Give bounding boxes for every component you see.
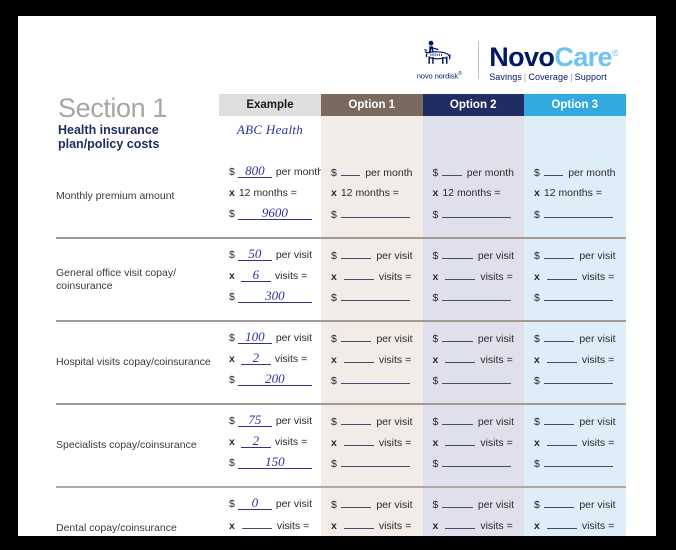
multiply-symbol: x: [534, 519, 540, 533]
row-2-option-3-total-input[interactable]: [544, 373, 613, 384]
row-2-option-3-rate-input[interactable]: [544, 331, 574, 342]
dollar-sign: $: [534, 208, 540, 222]
row-3-example-total-line: $150: [229, 456, 311, 477]
row-2-example-multiplier-line: x2visits =: [229, 352, 311, 373]
dollar-sign: $: [229, 207, 235, 221]
row-2-option-2-total-line: $: [433, 373, 515, 394]
row-3-example-rate-value: 75: [238, 414, 272, 427]
row-4-option-1-multiplier-line: xvisits =: [331, 518, 413, 536]
row-2-option-2-multiplier-label: visits =: [480, 353, 512, 367]
dollar-sign: $: [331, 415, 337, 429]
row-0-example-multiplier-line: x12 months =: [229, 186, 311, 207]
column-header-option-2: Option 2: [423, 94, 525, 116]
multiply-symbol: x: [534, 436, 540, 450]
row-0-option-3-total-line: $: [534, 207, 616, 228]
row-3-example-rate-line: $75per visit: [229, 414, 311, 435]
row-0-option-1-multiplier-label: 12 months =: [341, 186, 399, 200]
row-1-option-2-count-input[interactable]: [445, 269, 475, 280]
dollar-sign: $: [534, 249, 540, 263]
row-3-option-1-count-input[interactable]: [344, 435, 374, 446]
dollar-sign: $: [331, 249, 337, 263]
row-2-option-1-total-input[interactable]: [341, 373, 410, 384]
row-2-option-1-rate-line: $per visit: [331, 331, 413, 352]
row-3-option-1-total-line: $: [331, 456, 413, 477]
row-0-option-3-multiplier-line: x12 months =: [534, 186, 616, 207]
row-2-example-total-value: 200: [238, 373, 312, 386]
row-0-option-3-total-input[interactable]: [544, 207, 613, 218]
row-3-example-rate-unit-label: per visit: [276, 414, 312, 428]
row-1-option-1-rate-line: $per visit: [331, 248, 413, 269]
dollar-sign: $: [331, 291, 337, 305]
row-3-option-3-rate-unit-label: per visit: [579, 415, 615, 429]
section-subtitle-line-2: plan/policy costs: [58, 138, 219, 152]
multiply-symbol: x: [433, 270, 439, 284]
dollar-sign: $: [331, 208, 337, 222]
row-0-option-3-rate-input[interactable]: [544, 165, 563, 176]
row-1-example-total-line: $300: [229, 290, 311, 311]
dollar-sign: $: [433, 291, 439, 305]
row-2-option-1-cell[interactable]: $per visitxvisits =$: [321, 322, 423, 403]
dollar-sign: $: [331, 166, 337, 180]
row-1-option-1-cell[interactable]: $per visitxvisits =$: [321, 239, 423, 320]
row-0-option-2-cell[interactable]: $per monthx12 months =$: [423, 156, 525, 237]
dollar-sign: $: [433, 374, 439, 388]
row-2-option-1-multiplier-label: visits =: [379, 353, 411, 367]
row-1-option-2-rate-unit-label: per visit: [478, 249, 514, 263]
row-label-text: Dental copay/coinsurance: [56, 522, 177, 535]
page-title: Section 1: [58, 94, 219, 122]
multiply-symbol: x: [331, 436, 337, 450]
row-4-example-cell: $0per visitxvisits =$Not covered: [219, 488, 321, 536]
row-4-option-3-multiplier-line: xvisits =: [534, 518, 616, 536]
row-1-option-2-total-input[interactable]: [442, 290, 511, 301]
row-1-option-3-multiplier-label: visits =: [582, 270, 614, 284]
multiply-symbol: x: [433, 186, 439, 200]
row-0-example-rate-unit-label: per month: [276, 165, 323, 179]
row-0-option-2-multiplier-line: x12 months =: [433, 186, 515, 207]
row-3-option-1-total-input[interactable]: [341, 456, 410, 467]
multiply-symbol: x: [229, 352, 235, 366]
table-row: Dental copay/coinsurance$0per visitxvisi…: [56, 488, 626, 536]
novocare-logo: novo nordisk® NovoCare® Savings|Coverage…: [408, 38, 618, 82]
row-2-option-3-rate-line: $per visit: [534, 331, 616, 352]
dollar-sign: $: [433, 457, 439, 471]
row-4-example-multiplier-label: visits =: [277, 519, 309, 533]
multiply-symbol: x: [331, 519, 337, 533]
section-title-row: Section 1 Health insurance plan/policy c…: [56, 116, 626, 156]
novo-nordisk-apis-bull-icon: [419, 40, 459, 70]
row-3-option-3-rate-line: $per visit: [534, 414, 616, 435]
row-3-example-count-value: 2: [241, 435, 271, 448]
row-1-option-3-count-input[interactable]: [547, 269, 577, 280]
row-3-option-2-multiplier-label: visits =: [480, 436, 512, 450]
row-4-option-1-rate-unit-label: per visit: [376, 498, 412, 512]
novocare-care-text: Care: [554, 42, 612, 72]
row-0-option-3-multiplier-label: 12 months =: [544, 186, 602, 200]
dollar-sign: $: [534, 291, 540, 305]
row-2-option-1-rate-unit-label: per visit: [376, 332, 412, 346]
novo-nordisk-wordmark: novo nordisk®: [417, 71, 462, 81]
row-4-option-3-multiplier-label: visits =: [582, 519, 614, 533]
row-1-example-rate-value: 50: [238, 248, 272, 261]
dollar-sign: $: [229, 373, 235, 387]
row-1-option-3-multiplier-line: xvisits =: [534, 269, 616, 290]
row-3-option-2-rate-unit-label: per visit: [478, 415, 514, 429]
row-4-option-2-multiplier-line: xvisits =: [433, 518, 515, 536]
row-label-text: Hospital visits copay/coinsurance: [56, 356, 211, 369]
row-label: Monthly premium amount: [56, 156, 219, 237]
row-3-option-2-multiplier-line: xvisits =: [433, 435, 515, 456]
dollar-sign: $: [534, 166, 540, 180]
row-label-text: Specialists copay/coinsurance: [56, 439, 197, 452]
row-2-example-multiplier-label: visits =: [275, 352, 307, 366]
row-1-option-2-total-line: $: [433, 290, 515, 311]
row-label: Hospital visits copay/coinsurance: [56, 322, 219, 403]
row-1-example-multiplier-line: x6visits =: [229, 269, 311, 290]
row-1-option-3-rate-input[interactable]: [544, 248, 574, 259]
table-row: Monthly premium amount$800per monthx12 m…: [56, 156, 626, 237]
row-0-option-2-rate-input[interactable]: [442, 165, 461, 176]
row-2-option-1-rate-input[interactable]: [341, 331, 371, 342]
row-2-example-total-line: $200: [229, 373, 311, 394]
dollar-sign: $: [534, 457, 540, 471]
multiply-symbol: x: [534, 353, 540, 367]
row-1-option-2-cell[interactable]: $per visitxvisits =$: [423, 239, 525, 320]
row-4-option-3-rate-unit-label: per visit: [579, 498, 615, 512]
row-label: Specialists copay/coinsurance: [56, 405, 219, 486]
row-4-option-1-count-input[interactable]: [344, 518, 374, 529]
row-3-example-multiplier-line: x2visits =: [229, 435, 311, 456]
multiply-symbol: x: [229, 519, 235, 533]
table-row: Hospital visits copay/coinsurance$100per…: [56, 322, 626, 403]
row-1-option-1-rate-input[interactable]: [341, 248, 371, 259]
row-4-option-2-rate-unit-label: per visit: [478, 498, 514, 512]
section-subtitle-line-1: Health insurance: [58, 124, 219, 138]
row-0-option-1-rate-line: $per month: [331, 165, 413, 186]
dollar-sign: $: [331, 457, 337, 471]
row-4-option-2-multiplier-label: visits =: [480, 519, 512, 533]
row-4-option-3-cell[interactable]: $per visitxvisits =$: [524, 488, 626, 536]
row-4-option-1-cell[interactable]: $per visitxvisits =$: [321, 488, 423, 536]
row-3-option-3-total-input[interactable]: [544, 456, 613, 467]
dollar-sign: $: [229, 414, 235, 428]
insurance-cost-comparison-table: Example Option 1 Option 2 Option 3 Secti…: [56, 94, 626, 536]
dollar-sign: $: [229, 456, 235, 470]
row-2-option-1-multiplier-line: xvisits =: [331, 352, 413, 373]
row-1-option-3-total-line: $: [534, 290, 616, 311]
row-0-option-1-rate-input[interactable]: [341, 165, 360, 176]
row-0-option-2-rate-line: $per month: [433, 165, 515, 186]
dollar-sign: $: [229, 290, 235, 304]
section-title-block: Section 1 Health insurance plan/policy c…: [56, 116, 219, 156]
row-4-option-2-count-input[interactable]: [445, 518, 475, 529]
row-4-option-1-multiplier-label: visits =: [379, 519, 411, 533]
row-4-example-rate-value: 0: [238, 497, 272, 510]
dollar-sign: $: [534, 498, 540, 512]
row-1-example-rate-line: $50per visit: [229, 248, 311, 269]
row-0-option-3-rate-line: $per month: [534, 165, 616, 186]
row-0-example-rate-line: $800per month: [229, 165, 311, 186]
row-1-option-3-cell[interactable]: $per visitxvisits =$: [524, 239, 626, 320]
row-1-option-1-rate-unit-label: per visit: [376, 249, 412, 263]
row-4-option-1-rate-line: $per visit: [331, 497, 413, 518]
row-0-option-2-total-line: $: [433, 207, 515, 228]
row-0-option-1-total-line: $: [331, 207, 413, 228]
row-2-example-rate-unit-label: per visit: [276, 331, 312, 345]
dollar-sign: $: [229, 331, 235, 345]
row-4-option-2-cell[interactable]: $per visitxvisits =$: [423, 488, 525, 536]
row-0-example-total-value: 9600: [238, 207, 312, 220]
row-3-option-1-multiplier-line: xvisits =: [331, 435, 413, 456]
novo-nordisk-logo: novo nordisk®: [408, 40, 470, 81]
row-0-option-3-rate-unit-label: per month: [568, 166, 615, 180]
row-0-option-1-rate-unit-label: per month: [365, 166, 412, 180]
row-3-option-2-rate-input[interactable]: [442, 414, 472, 425]
row-label: General office visit copay/ coinsurance: [56, 239, 219, 320]
row-1-option-1-total-input[interactable]: [341, 290, 410, 301]
dollar-sign: $: [534, 374, 540, 388]
row-3-option-1-multiplier-label: visits =: [379, 436, 411, 450]
multiply-symbol: x: [229, 186, 235, 200]
row-2-example-rate-value: 100: [238, 331, 272, 344]
row-0-option-2-total-input[interactable]: [442, 207, 511, 218]
logo-divider: [478, 41, 479, 79]
row-2-option-2-count-input[interactable]: [445, 352, 475, 363]
registered-trademark-icon: ®: [612, 48, 618, 58]
row-3-option-3-cell[interactable]: $per visitxvisits =$: [524, 405, 626, 486]
multiply-symbol: x: [229, 269, 235, 283]
table-row: Specialists copay/coinsurance$75per visi…: [56, 405, 626, 486]
row-3-option-3-total-line: $: [534, 456, 616, 477]
row-1-option-2-rate-line: $per visit: [433, 248, 515, 269]
row-4-option-2-rate-input[interactable]: [442, 497, 472, 508]
row-4-option-1-rate-input[interactable]: [341, 497, 371, 508]
dollar-sign: $: [229, 165, 235, 179]
row-1-option-1-total-line: $: [331, 290, 413, 311]
row-4-example-rate-unit-label: per visit: [276, 497, 312, 511]
row-2-option-3-cell[interactable]: $per visitxvisits =$: [524, 322, 626, 403]
multiply-symbol: x: [331, 270, 337, 284]
example-plan-name-cell: ABC Health: [219, 116, 321, 156]
dollar-sign: $: [433, 166, 439, 180]
row-4-example-count-input[interactable]: [242, 518, 272, 529]
row-0-example-total-line: $9600: [229, 207, 311, 228]
row-3-example-cell: $75per visitx2visits =$150: [219, 405, 321, 486]
row-1-example-rate-unit-label: per visit: [276, 248, 312, 262]
row-0-example-cell: $800per monthx12 months =$9600: [219, 156, 321, 237]
row-label-text: Monthly premium amount: [56, 190, 174, 203]
dollar-sign: $: [433, 415, 439, 429]
column-header-option-1: Option 1: [321, 94, 423, 116]
multiply-symbol: x: [534, 186, 540, 200]
row-1-example-count-value: 6: [241, 269, 271, 282]
row-1-option-1-multiplier-label: visits =: [379, 270, 411, 284]
multiply-symbol: x: [433, 353, 439, 367]
multiply-symbol: x: [433, 436, 439, 450]
dollar-sign: $: [229, 248, 235, 262]
document-page: novo nordisk® NovoCare® Savings|Coverage…: [18, 16, 656, 536]
row-3-option-3-multiplier-label: visits =: [582, 436, 614, 450]
row-2-option-3-count-input[interactable]: [547, 352, 577, 363]
row-3-example-total-value: 150: [238, 456, 312, 469]
dollar-sign: $: [331, 498, 337, 512]
row-0-option-1-total-input[interactable]: [341, 207, 410, 218]
row-2-example-cell: $100per visitx2visits =$200: [219, 322, 321, 403]
row-1-example-total-value: 300: [238, 290, 312, 303]
row-0-example-multiplier-label: 12 months =: [239, 186, 297, 200]
row-3-option-3-rate-input[interactable]: [544, 414, 574, 425]
dollar-sign: $: [534, 415, 540, 429]
row-0-example-rate-value: 800: [238, 165, 272, 178]
row-0-option-2-rate-unit-label: per month: [467, 166, 514, 180]
example-plan-name: ABC Health: [219, 116, 321, 138]
row-2-example-rate-line: $100per visit: [229, 331, 311, 352]
table-row: General office visit copay/ coinsurance$…: [56, 239, 626, 320]
row-3-option-3-multiplier-line: xvisits =: [534, 435, 616, 456]
dollar-sign: $: [331, 332, 337, 346]
row-label: Dental copay/coinsurance: [56, 488, 219, 536]
row-2-example-count-value: 2: [241, 352, 271, 365]
dollar-sign: $: [433, 332, 439, 346]
row-4-option-2-rate-line: $per visit: [433, 497, 515, 518]
row-label-text: General office visit copay/ coinsurance: [56, 267, 219, 293]
row-1-option-1-count-input[interactable]: [344, 269, 374, 280]
row-4-option-3-count-input[interactable]: [547, 518, 577, 529]
row-2-option-2-rate-line: $per visit: [433, 331, 515, 352]
row-1-option-2-rate-input[interactable]: [442, 248, 472, 259]
row-1-example-multiplier-label: visits =: [275, 269, 307, 283]
row-3-option-1-cell[interactable]: $per visitxvisits =$: [321, 405, 423, 486]
row-1-option-1-multiplier-line: xvisits =: [331, 269, 413, 290]
row-3-option-2-cell[interactable]: $per visitxvisits =$: [423, 405, 525, 486]
row-2-option-1-total-line: $: [331, 373, 413, 394]
row-3-example-multiplier-label: visits =: [275, 435, 307, 449]
row-3-option-1-rate-unit-label: per visit: [376, 415, 412, 429]
novocare-wordmark: NovoCare® Savings|Coverage|Support: [489, 39, 618, 82]
row-2-option-3-rate-unit-label: per visit: [579, 332, 615, 346]
dollar-sign: $: [331, 374, 337, 388]
row-0-option-3-cell[interactable]: $per monthx12 months =$: [524, 156, 626, 237]
row-0-option-1-multiplier-line: x12 months =: [331, 186, 413, 207]
row-4-option-3-rate-line: $per visit: [534, 497, 616, 518]
row-2-option-3-total-line: $: [534, 373, 616, 394]
column-header-option-3: Option 3: [524, 94, 626, 116]
row-4-example-rate-line: $0per visit: [229, 497, 311, 518]
tagline-support: Support: [575, 72, 607, 82]
row-2-option-3-multiplier-label: visits =: [582, 353, 614, 367]
dollar-sign: $: [534, 332, 540, 346]
tagline-coverage: Coverage: [528, 72, 568, 82]
row-1-example-cell: $50per visitx6visits =$300: [219, 239, 321, 320]
row-2-option-2-multiplier-line: xvisits =: [433, 352, 515, 373]
row-4-example-multiplier-line: xvisits =: [229, 518, 311, 536]
row-1-option-3-rate-unit-label: per visit: [579, 249, 615, 263]
row-1-option-3-total-input[interactable]: [544, 290, 613, 301]
row-1-option-2-multiplier-label: visits =: [480, 270, 512, 284]
dollar-sign: $: [433, 208, 439, 222]
row-3-option-2-count-input[interactable]: [445, 435, 475, 446]
row-3-option-1-rate-line: $per visit: [331, 414, 413, 435]
tagline-savings: Savings: [489, 72, 522, 82]
row-1-option-3-rate-line: $per visit: [534, 248, 616, 269]
row-3-option-3-count-input[interactable]: [547, 435, 577, 446]
row-2-option-2-total-input[interactable]: [442, 373, 511, 384]
multiply-symbol: x: [331, 186, 337, 200]
row-1-option-2-multiplier-line: xvisits =: [433, 269, 515, 290]
dollar-sign: $: [433, 249, 439, 263]
row-4-option-3-rate-input[interactable]: [544, 497, 574, 508]
row-0-option-2-multiplier-label: 12 months =: [442, 186, 500, 200]
dollar-sign: $: [229, 497, 235, 511]
multiply-symbol: x: [229, 435, 235, 449]
row-3-option-2-total-input[interactable]: [442, 456, 511, 467]
novocare-novo-text: Novo: [489, 42, 554, 72]
row-2-option-2-rate-unit-label: per visit: [478, 332, 514, 346]
multiply-symbol: x: [534, 270, 540, 284]
row-3-option-2-rate-line: $per visit: [433, 414, 515, 435]
row-3-option-1-rate-input[interactable]: [341, 414, 371, 425]
row-2-option-2-cell[interactable]: $per visitxvisits =$: [423, 322, 525, 403]
option-2-plan-name-cell[interactable]: [423, 116, 525, 156]
option-3-plan-name-cell[interactable]: [524, 116, 626, 156]
dollar-sign: $: [433, 498, 439, 512]
row-2-option-3-multiplier-line: xvisits =: [534, 352, 616, 373]
multiply-symbol: x: [331, 353, 337, 367]
multiply-symbol: x: [433, 519, 439, 533]
column-header-example: Example: [219, 94, 321, 116]
row-2-option-2-rate-input[interactable]: [442, 331, 472, 342]
row-3-option-2-total-line: $: [433, 456, 515, 477]
option-1-plan-name-cell[interactable]: [321, 116, 423, 156]
row-2-option-1-count-input[interactable]: [344, 352, 374, 363]
row-0-option-1-cell[interactable]: $per monthx12 months =$: [321, 156, 423, 237]
